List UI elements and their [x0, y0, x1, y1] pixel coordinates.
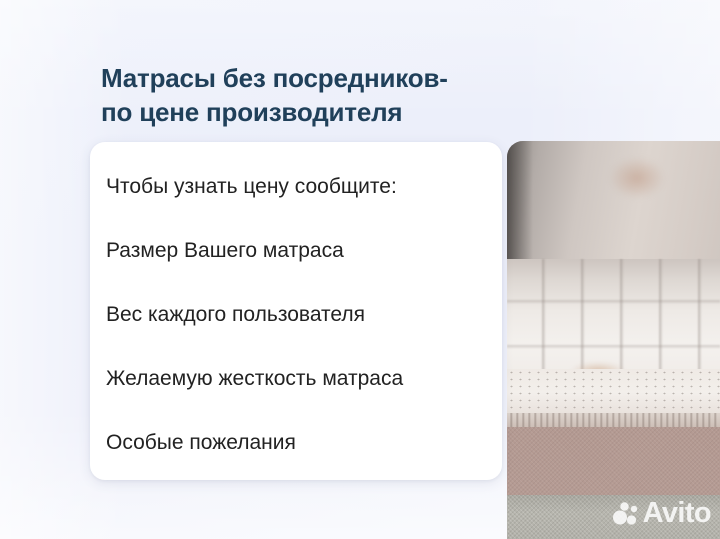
- page-title: Матрасы без посредников- по цене произво…: [101, 61, 521, 129]
- headline-line-2: по цене производителя: [101, 95, 521, 129]
- requirements-list: Чтобы узнать цену сообщите: Размер Вашег…: [90, 142, 502, 494]
- avito-dots-icon: [612, 502, 638, 526]
- list-item: Желаемую жесткость матраса: [106, 366, 502, 430]
- list-item: Чтобы узнать цену сообщите:: [106, 174, 502, 238]
- ad-canvas: Матрасы без посредников- по цене произво…: [0, 0, 720, 539]
- headline-line-1: Матрасы без посредников-: [101, 61, 521, 95]
- photo-welt-trim: [507, 413, 720, 427]
- mattress-photo: [507, 141, 720, 539]
- info-card: Чтобы узнать цену сообщите: Размер Вашег…: [90, 142, 502, 480]
- list-item: Вес каждого пользователя: [106, 302, 502, 366]
- avito-watermark: Avito: [612, 499, 711, 528]
- photo-wall-stain: [609, 157, 665, 199]
- list-item: Особые пожелания: [106, 430, 502, 494]
- photo-quilted-surface: [507, 259, 720, 384]
- avito-wordmark: Avito: [643, 499, 711, 528]
- photo-welt-ribs: [507, 413, 720, 427]
- list-item: Размер Вашего матраса: [106, 238, 502, 302]
